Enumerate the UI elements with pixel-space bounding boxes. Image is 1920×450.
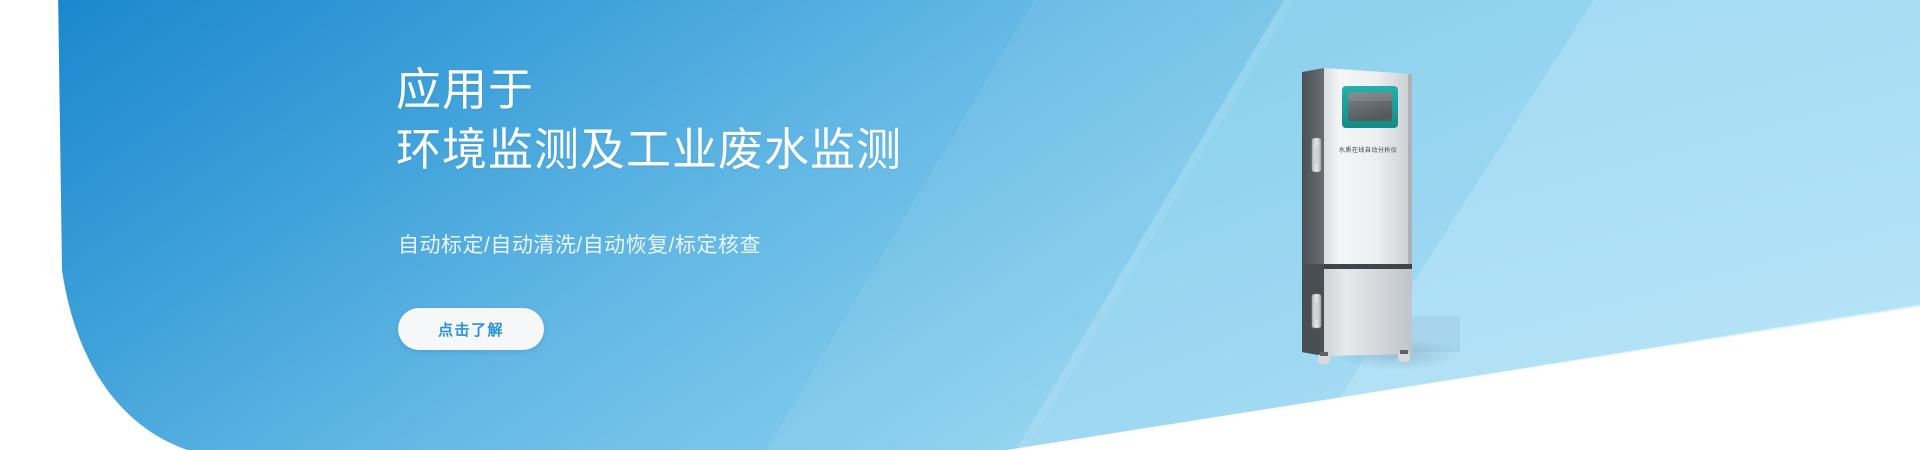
cabinet-upper-door-edge [1408,74,1412,266]
background-graphic [0,0,1920,450]
product-label: 水质在线自动分析仪 [1339,146,1397,154]
banner-subtitle: 自动标定/自动清洗/自动恢复/标定核查 [398,229,761,259]
caster-left-frame [1320,352,1328,356]
cabinet-divider [1324,264,1412,269]
screen-glare [1348,92,1392,101]
lower-door-handle-slot [1315,302,1318,320]
headline-line-1: 应用于 [396,60,902,120]
cabinet-lower-door [1324,269,1412,356]
product-image: 水质在线自动分析仪 [1300,66,1460,386]
learn-more-button[interactable]: 点击了解 [398,308,544,350]
page-title: 应用于 环境监测及工业废水监测 [396,60,902,180]
hero-banner: 应用于 环境监测及工业废水监测 自动标定/自动清洗/自动恢复/标定核查 点击了解 [0,0,1920,450]
product-shadow-streak [1408,316,1460,352]
upper-door-handle-slot [1315,146,1318,164]
caster-right-frame [1400,350,1408,354]
headline-line-2: 环境监测及工业废水监测 [396,120,902,180]
